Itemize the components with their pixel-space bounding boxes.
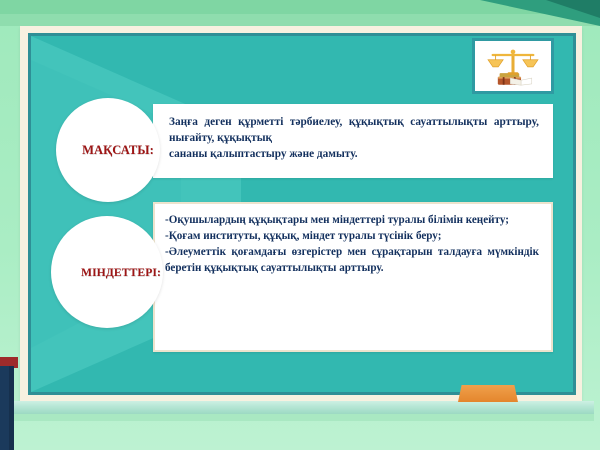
desk-leg-decor-shadow (9, 366, 14, 450)
tasks-line-1: -Оқушылардың құқықтары мен міндеттері ту… (165, 212, 539, 228)
tasks-label: МІНДЕТТЕРІ: (81, 266, 161, 279)
aim-label-circle: МАҚСАТЫ: (56, 98, 160, 202)
scales-of-justice-icon (475, 41, 551, 91)
aim-line-2: сананы қалыптастыру және дамыту. (169, 146, 539, 162)
slide-canvas: Заңға деген құрметті тәрбиелеу, құқықтық… (0, 0, 600, 450)
justice-scales-image (472, 38, 554, 94)
tasks-line-3: -Әлеуметтік қоғамдағы өзгерістер мен сұр… (165, 244, 539, 276)
aim-text-box: Заңға деген құрметті тәрбиелеу, құқықтық… (153, 104, 553, 178)
tasks-text: -Оқушылардың құқықтары мен міндеттері ту… (155, 204, 551, 282)
tasks-label-circle: МІНДЕТТЕРІ: (51, 216, 163, 328)
aim-line-1: Заңға деген құрметті тәрбиелеу, құқықтық… (169, 114, 539, 146)
chalk-eraser-icon (458, 385, 518, 402)
desk-leg-decor (0, 366, 9, 450)
chalk-ledge (8, 401, 594, 414)
aim-label: МАҚСАТЫ: (82, 143, 154, 158)
aim-text: Заңға деген құрметті тәрбиелеу, құқықтық… (153, 104, 553, 170)
tasks-line-2: -Қоғам институты, құқық, міндет туралы т… (165, 228, 539, 244)
tasks-text-box: -Оқушылардың құқықтары мен міндеттері ту… (153, 202, 553, 352)
chalk-ledge-shadow (8, 414, 594, 421)
